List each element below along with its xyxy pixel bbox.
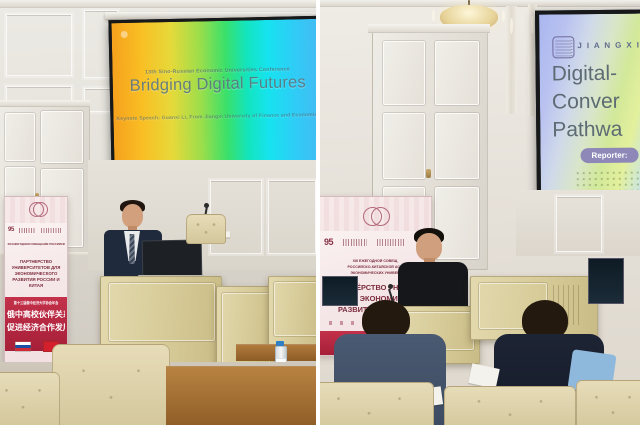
chair-upholstery-pattern bbox=[580, 384, 640, 425]
chair[interactable] bbox=[320, 382, 434, 425]
chair[interactable] bbox=[0, 372, 60, 425]
chandelier-crystal bbox=[502, 10, 505, 22]
banner-russian-title: ПАРТНЕРСТВО УНИВЕРСИТЕТОВ ДЛЯ ЭКОНОМИЧЕС… bbox=[7, 259, 65, 289]
door-panel bbox=[435, 113, 479, 179]
sconce-crystal bbox=[510, 18, 513, 34]
banner-anniversary-mark: 95 bbox=[324, 237, 333, 247]
monitor bbox=[588, 258, 624, 304]
banner-chinese-title-line2: 促进经济合作发展 bbox=[7, 322, 65, 333]
slide-title-line-1: Digital- bbox=[552, 62, 618, 87]
jiangxi-seal-icon bbox=[552, 36, 574, 58]
bottle-cap bbox=[276, 341, 284, 346]
sconce-crystal bbox=[531, 16, 534, 34]
roll-up-banner: 95 XIII ЕЖЕГОДНОЙ СОВЕЩАНИЕ РОССИЙСКО-КИ… bbox=[4, 196, 68, 366]
door-panel bbox=[383, 41, 425, 105]
banner-anniversary-mark: 95 bbox=[8, 227, 14, 233]
microphone-icon bbox=[204, 203, 209, 208]
screenshot-stage: 13th Sino-Russian Economic Universities … bbox=[0, 0, 640, 425]
slide-reporter-badge: Reporter: bbox=[580, 148, 638, 164]
chair-upholstery-pattern bbox=[0, 376, 56, 424]
door-knob-icon[interactable] bbox=[426, 169, 431, 178]
display-slide: J I A N G X I Digital- Conver Pathwa Rep… bbox=[539, 13, 640, 194]
banner-association-logo-icon bbox=[33, 202, 48, 217]
desk-side-panel bbox=[268, 276, 316, 348]
chair[interactable] bbox=[444, 386, 576, 425]
banner-chinese-subheading: 第十三届俄中经济大学协会年会 bbox=[7, 300, 65, 305]
slide-logo-icon bbox=[121, 31, 128, 38]
presenter-tie bbox=[129, 234, 135, 264]
microphone-icon bbox=[388, 284, 393, 289]
banner-association-logo-icon bbox=[371, 207, 390, 226]
chair-upholstery-pattern bbox=[56, 348, 166, 424]
door-panel bbox=[5, 113, 35, 161]
wall-moulding-panel bbox=[556, 196, 602, 252]
chair[interactable] bbox=[52, 344, 170, 425]
door-panel bbox=[383, 113, 425, 179]
presenter-head bbox=[122, 204, 143, 228]
ceiling-cornice bbox=[0, 0, 316, 8]
door-lintel bbox=[0, 100, 90, 107]
banner-russian-subheading: XIII ЕЖЕГОДНОЙ СОВЕЩАНИЕ РОССИЙСКО-КИТАЙ… bbox=[7, 243, 64, 246]
banner-partner-logo-icon bbox=[41, 228, 61, 233]
chair-upholstery-pattern bbox=[320, 386, 430, 425]
chair[interactable] bbox=[186, 214, 226, 244]
russia-flag-icon bbox=[15, 341, 31, 352]
banner-chinese-title-line1: 俄中高校伙伴关系 bbox=[7, 309, 65, 320]
banner-partner-logo-icon bbox=[343, 239, 367, 246]
banner-partner-logo-icon bbox=[19, 228, 35, 233]
right-conference-photo: J I A N G X I Digital- Conver Pathwa Rep… bbox=[320, 0, 640, 425]
laptop[interactable] bbox=[142, 239, 203, 278]
chair-upholstery-pattern bbox=[448, 390, 572, 425]
chair[interactable] bbox=[576, 380, 640, 425]
jiangxi-seal-inner bbox=[555, 39, 572, 56]
wall-moulding-panel bbox=[268, 180, 316, 254]
presenter-head bbox=[416, 233, 442, 261]
chandelier-crystal bbox=[432, 10, 435, 22]
chair-upholstery-pattern bbox=[190, 218, 222, 240]
wall-moulding-panel bbox=[6, 14, 72, 76]
slide-org-name: J I A N G X I bbox=[577, 41, 640, 51]
display-screen: J I A N G X I Digital- Conver Pathwa Rep… bbox=[535, 9, 640, 198]
door-panel bbox=[435, 41, 479, 105]
slide-title-line-3: Pathwa bbox=[552, 118, 622, 143]
podium-inset-panel bbox=[109, 283, 215, 341]
left-conference-photo: 13th Sino-Russian Economic Universities … bbox=[0, 0, 316, 425]
desk-inset-panel bbox=[274, 282, 316, 336]
projection-slide: 13th Sino-Russian Economic Universities … bbox=[111, 19, 316, 171]
slide-title-line-2: Conver bbox=[552, 90, 620, 115]
projection-screen: 13th Sino-Russian Economic Universities … bbox=[108, 16, 316, 174]
panel-divider bbox=[316, 0, 320, 425]
door-lintel bbox=[368, 24, 490, 33]
door-panel bbox=[41, 111, 83, 163]
wooden-desk-front bbox=[166, 366, 316, 425]
